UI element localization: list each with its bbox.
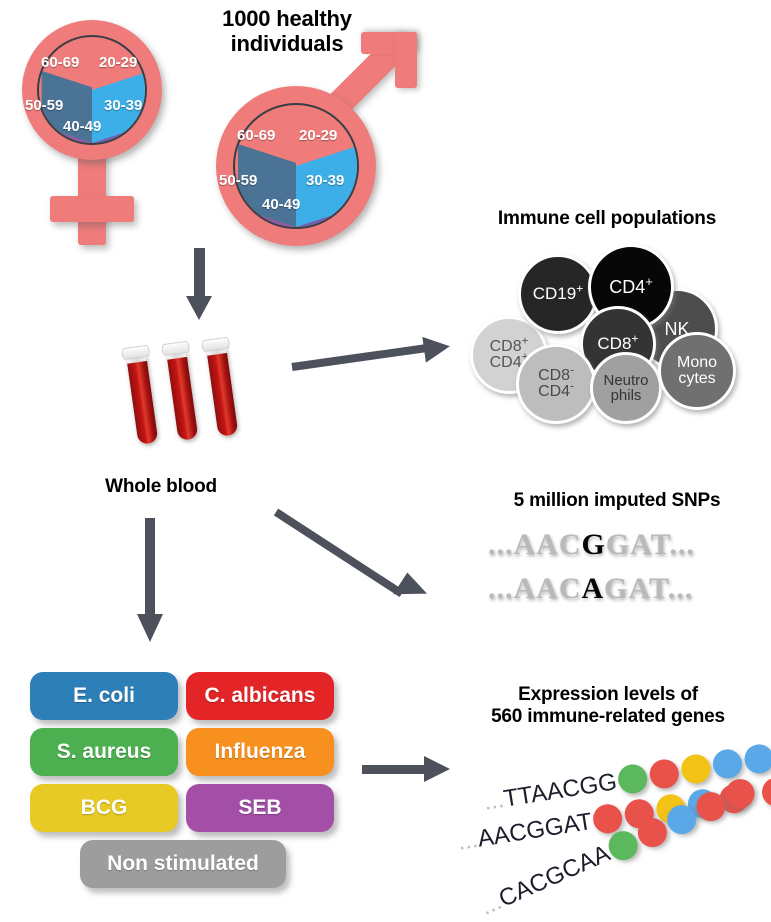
dna-bead [616,762,649,795]
stimulus-e-coli[interactable]: E. coli [30,672,178,720]
male-pie-label-40-49: 40-49 [262,196,300,213]
tube-body [126,355,158,445]
stimulus-seb[interactable]: SEB [186,784,334,832]
snp-prefix: ...AAC [488,572,582,605]
arrow-head [137,614,163,642]
male-symbol: 20-29 30-39 40-49 50-59 60-69 [196,40,426,250]
dna-bead [760,776,771,809]
cell-label: CD4+ [609,278,653,296]
female-pie-label-60-69: 60-69 [41,54,79,71]
stimulus-c-albicans[interactable]: C. albicans [186,672,334,720]
dna-sequence: ...CACGCAA [476,839,614,921]
male-pie-label-20-29: 20-29 [299,127,337,144]
stimulus-label: Influenza [214,740,305,764]
snp-highlight: G [582,528,606,561]
arrow-shaft [362,765,428,774]
tube-body [166,351,198,441]
arrow-stimuli-to-expression [362,756,472,788]
immune-cell-cluster: CD8+ CD4+ NK CD19+ CD4+ CD8+ CD8- CD4- N… [460,244,760,424]
cell-label: CD19+ [533,285,584,302]
dna-bases: CACGCAA [495,839,614,912]
immune-cell-monocytes: Monocytes [658,332,736,410]
arrow-individuals-to-blood [185,248,215,320]
stimulus-influenza[interactable]: Influenza [186,728,334,776]
female-symbol: 20-29 30-39 40-49 50-59 60-69 [8,14,198,254]
stimulus-label: S. aureus [57,740,152,764]
arrow-shaft [274,509,404,597]
stimulus-label: SEB [238,796,281,820]
dna-bead [680,752,713,785]
immune-cell-cd8neg-cd4neg: CD8- CD4- [516,344,596,424]
female-pie-label-30-39: 30-39 [104,97,142,114]
arrow-blood-to-stimuli [136,518,166,648]
female-crossbar [50,196,134,222]
male-pie-label-30-39: 30-39 [306,172,344,189]
female-pie-label-20-29: 20-29 [99,54,137,71]
immune-title: Immune cell populations [452,208,762,230]
expression-title-line1: Expression levels of [452,684,764,706]
snp-row: ...AACGGAT... [488,528,695,562]
snp-prefix: ...AAC [488,528,582,561]
dna-sequence: ...AACGGAT [456,807,594,856]
stimuli-panel: E. coli C. albicans S. aureus Influenza … [30,672,350,894]
arrow-blood-to-immune-cells [292,330,462,380]
female-pie-label-50-59: 50-59 [25,97,63,114]
stimulus-non-stimulated[interactable]: Non stimulated [80,840,286,888]
dna-bead [648,757,681,790]
expression-title: Expression levels of 560 immune-related … [452,684,764,728]
arrow-shaft [194,248,205,300]
snp-sequences: ...AACGGAT... ...AACAGAT... [480,528,760,626]
male-pie-label-50-59: 50-59 [219,172,257,189]
blood-tubes [118,338,258,458]
snp-row: ...AACAGAT... [488,572,693,606]
stimulus-s-aureus[interactable]: S. aureus [30,728,178,776]
snp-suffix: GAT... [606,528,695,561]
immune-cell-neutrophils: Neutrophils [590,352,662,424]
arrow-head [393,572,431,609]
stimulus-label: Non stimulated [107,852,259,876]
arrow-blood-to-snps [276,504,466,634]
whole-blood-label: Whole blood [88,476,234,498]
stimulus-label: E. coli [73,684,135,708]
snp-suffix: GAT... [604,572,693,605]
arrow-shaft [145,518,155,618]
stimulus-label: BCG [81,796,128,820]
cell-label: CD8- CD4- [538,368,574,401]
arrow-shaft [291,344,431,371]
arrow-head [186,296,212,320]
stimulus-label: C. albicans [205,684,316,708]
cell-label: Neutrophils [603,373,648,404]
male-pie-label-60-69: 60-69 [237,127,275,144]
dna-bead [711,747,744,780]
male-arrowhead [361,32,417,88]
expression-title-line2: 560 immune-related genes [452,706,764,728]
cohort-title-line1: 1000 healthy [176,6,398,31]
stimulus-bcg[interactable]: BCG [30,784,178,832]
snps-title: 5 million imputed SNPs [472,490,762,512]
arrow-head [424,756,450,782]
arrow-head [422,333,451,362]
dna-strands: ...TTAACGG ...AACGGAT ...CACGCAA [460,744,771,920]
cell-label: Monocytes [677,355,717,388]
cell-label: CD8+ [597,335,638,352]
tube-body [206,347,238,437]
snp-highlight: A [582,572,605,605]
dna-bead [743,742,771,775]
female-pie-label-40-49: 40-49 [63,118,101,135]
